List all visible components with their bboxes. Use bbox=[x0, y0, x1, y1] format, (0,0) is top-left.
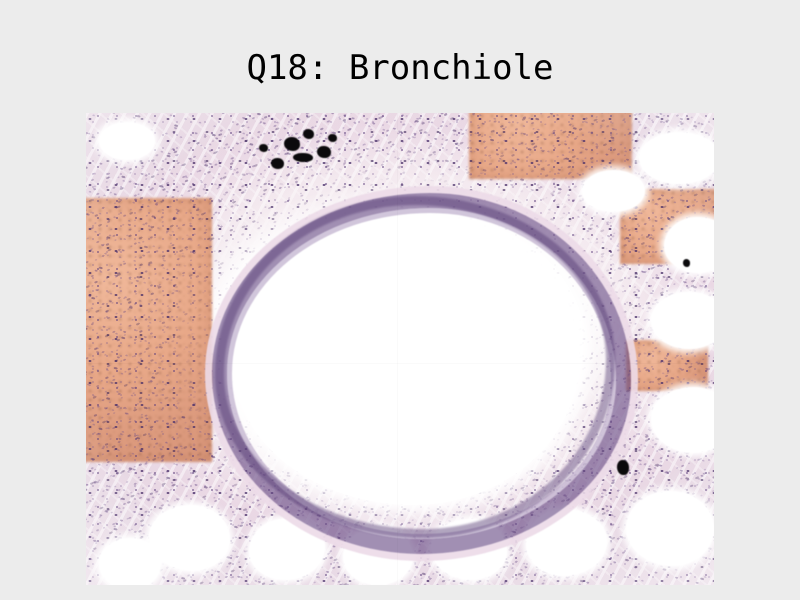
anthracotic-pigment bbox=[303, 129, 314, 139]
alveolar-space bbox=[639, 132, 714, 184]
anthracotic-pigment bbox=[317, 146, 331, 158]
anthracotic-pigment bbox=[683, 259, 691, 267]
anthracotic-pigment bbox=[328, 134, 337, 142]
anthracotic-pigment bbox=[259, 144, 268, 152]
anthracotic-pigment bbox=[271, 158, 284, 169]
page-title: Q18: Bronchiole bbox=[0, 47, 800, 89]
anthracotic-pigment bbox=[617, 460, 628, 475]
anthracotic-pigment bbox=[284, 137, 300, 151]
scan-seam-horizontal bbox=[86, 363, 714, 364]
anthracotic-pigment bbox=[293, 153, 313, 162]
slide-canvas: Q18: Bronchiole bbox=[0, 0, 800, 600]
scan-seam-vertical bbox=[397, 113, 398, 585]
bronchiole-epithelium-inner bbox=[215, 196, 615, 538]
alveolar-space bbox=[99, 538, 162, 585]
alveolar-space bbox=[99, 122, 156, 160]
alveolar-space bbox=[582, 170, 645, 212]
alveolar-space bbox=[149, 505, 231, 571]
alveolar-space bbox=[626, 491, 714, 567]
bronchiole-histology-micrograph bbox=[86, 113, 714, 585]
